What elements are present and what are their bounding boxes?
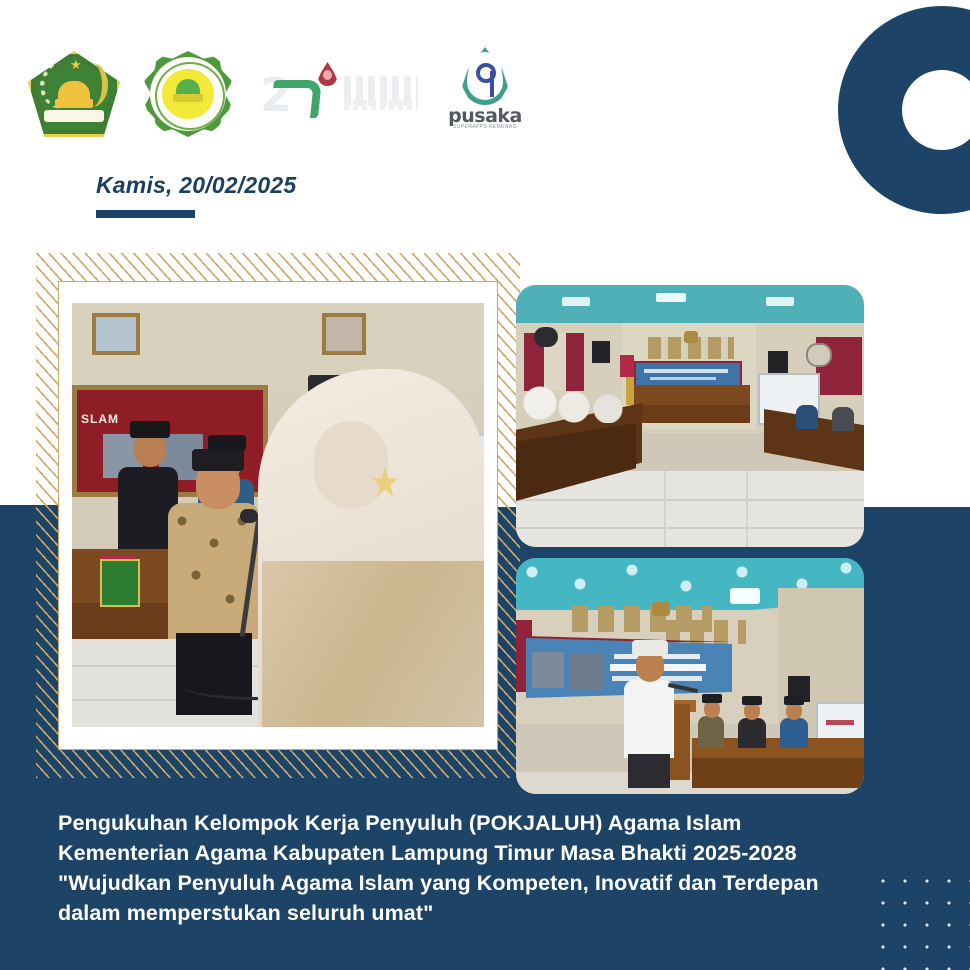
photo-main-speaker: SLAM	[72, 303, 484, 727]
pusaka-logo-icon: pusaka SUPERAPPS KEMENAG	[446, 45, 524, 141]
event-date-label: Kamis, 20/02/2025	[96, 172, 296, 199]
ring-decoration-icon	[838, 6, 970, 214]
poster-canvas: ★ 2 pusaka SUPERAPPS KEMENAG	[0, 0, 970, 970]
photo-podium-speech	[516, 558, 864, 794]
dot-grid-decoration	[868, 866, 970, 970]
kemenag-logo-icon: ★	[28, 47, 120, 139]
hab-79-logo-icon: 2	[256, 58, 424, 128]
photo-hall-wide	[516, 285, 864, 547]
pokjaluh-logo-icon	[142, 47, 234, 139]
event-date: Kamis, 20/02/2025	[96, 172, 296, 218]
pusaka-tagline: SUPERAPPS KEMENAG	[446, 124, 524, 130]
date-underline-rule	[96, 210, 195, 218]
logo-row: ★ 2 pusaka SUPERAPPS KEMENAG	[28, 38, 508, 148]
poster-caption: Pengukuhan Kelompok Kerja Penyuluh (POKJ…	[58, 808, 868, 928]
